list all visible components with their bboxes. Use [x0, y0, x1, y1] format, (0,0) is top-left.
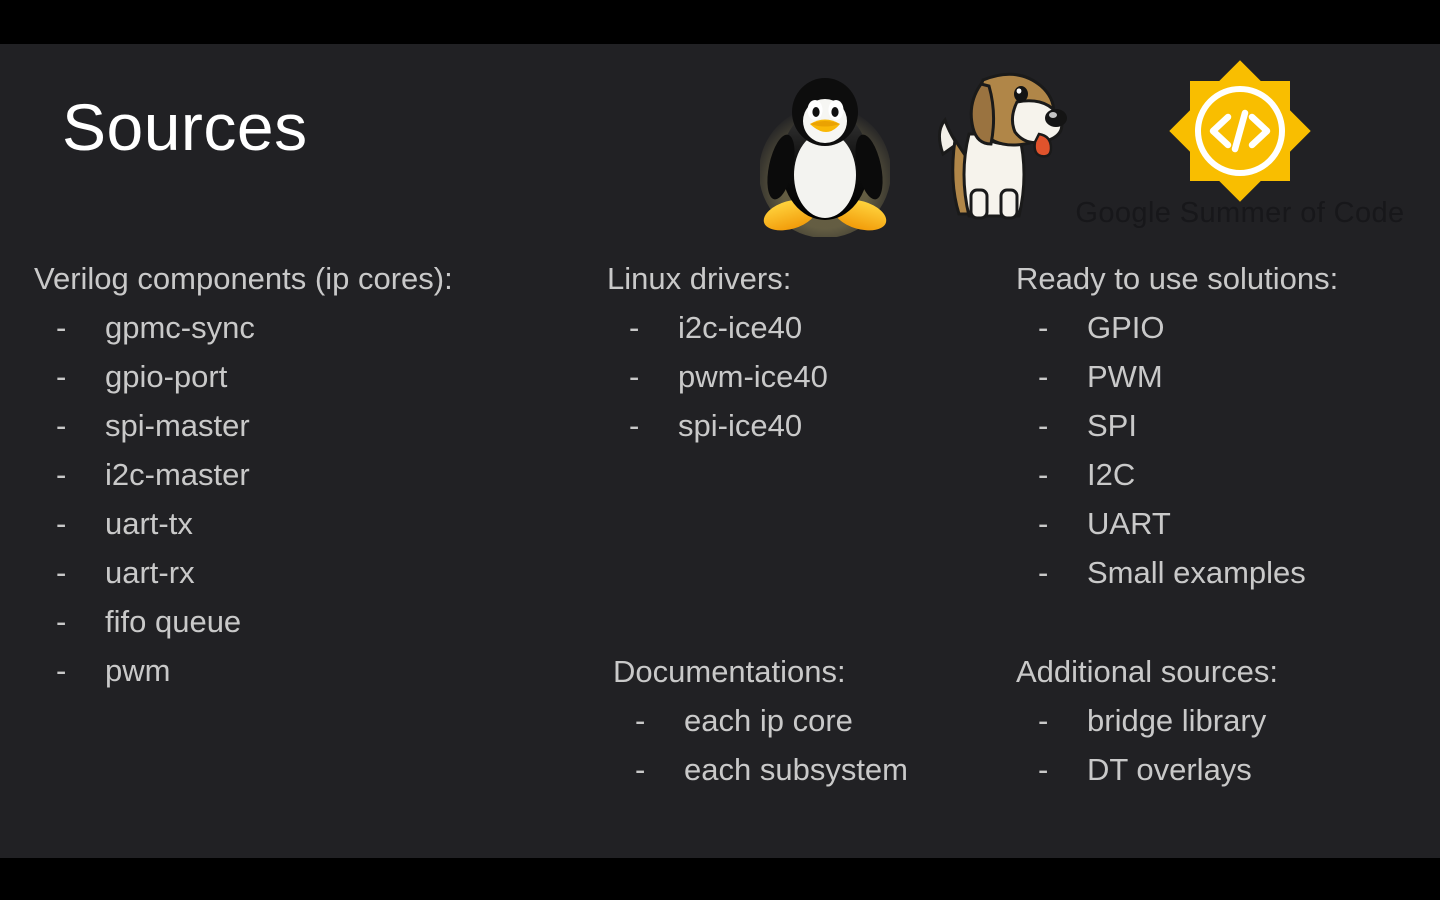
item-list: -gpmc-sync -gpio-port -spi-master -i2c-m… — [34, 303, 594, 695]
block-heading: Linux drivers: — [607, 254, 1007, 303]
list-item[interactable]: -each subsystem — [613, 745, 908, 794]
bullet-dash: - — [56, 499, 66, 548]
bullet-dash: - — [1038, 450, 1048, 499]
list-item-label: UART — [1087, 506, 1171, 541]
list-item-label: DT overlays — [1087, 752, 1252, 787]
bullet-dash: - — [1038, 401, 1048, 450]
list-item[interactable]: -gpmc-sync — [34, 303, 594, 352]
block-documentations: Documentations: -each ip core -each subs… — [613, 647, 908, 794]
presentation-slide: Sources — [0, 44, 1440, 858]
list-item[interactable]: -spi-master — [34, 401, 594, 450]
list-item[interactable]: -each ip core — [613, 696, 908, 745]
list-item-label: I2C — [1087, 457, 1135, 492]
list-item[interactable]: -PWM — [1016, 352, 1426, 401]
item-list: -each ip core -each subsystem — [613, 696, 908, 794]
list-item[interactable]: -SPI — [1016, 401, 1426, 450]
bullet-dash: - — [1038, 499, 1048, 548]
list-item[interactable]: -gpio-port — [34, 352, 594, 401]
bullet-dash: - — [56, 450, 66, 499]
list-item-label: gpio-port — [105, 359, 227, 394]
block-linux-drivers: Linux drivers: -i2c-ice40 -pwm-ice40 -sp… — [607, 254, 1007, 450]
column-linux-drivers: Linux drivers: -i2c-ice40 -pwm-ice40 -sp… — [607, 254, 1007, 450]
block-verilog-components: Verilog components (ip cores): -gpmc-syn… — [34, 254, 594, 695]
list-item[interactable]: -Small examples — [1016, 548, 1426, 597]
block-ready-to-use-solutions: Ready to use solutions: -GPIO -PWM -SPI … — [1016, 254, 1426, 597]
list-item[interactable]: -UART — [1016, 499, 1426, 548]
list-item-label: i2c-ice40 — [678, 310, 802, 345]
block-heading: Verilog components (ip cores): — [34, 254, 594, 303]
list-item-label: spi-master — [105, 408, 250, 443]
list-item[interactable]: -GPIO — [1016, 303, 1426, 352]
bullet-dash: - — [1038, 745, 1048, 794]
list-item[interactable]: -i2c-master — [34, 450, 594, 499]
bullet-dash: - — [56, 352, 66, 401]
list-item[interactable]: -uart-tx — [34, 499, 594, 548]
list-item-label: fifo queue — [105, 604, 241, 639]
list-item-label: gpmc-sync — [105, 310, 255, 345]
bullet-dash: - — [635, 745, 645, 794]
block-heading: Additional sources: — [1016, 647, 1278, 696]
item-list: -bridge library -DT overlays — [1016, 696, 1278, 794]
bullet-dash: - — [1038, 548, 1048, 597]
list-item-label: each subsystem — [684, 752, 908, 787]
bullet-dash: - — [56, 303, 66, 352]
list-item-label: pwm-ice40 — [678, 359, 828, 394]
list-item[interactable]: -i2c-ice40 — [607, 303, 1007, 352]
bullet-dash: - — [629, 401, 639, 450]
list-item-label: pwm — [105, 653, 170, 688]
list-item[interactable]: -spi-ice40 — [607, 401, 1007, 450]
list-item-label: SPI — [1087, 408, 1137, 443]
bullet-dash: - — [629, 303, 639, 352]
bullet-dash: - — [629, 352, 639, 401]
list-item-label: i2c-master — [105, 457, 250, 492]
bullet-dash: - — [1038, 303, 1048, 352]
column-verilog-components: Verilog components (ip cores): -gpmc-syn… — [34, 254, 594, 695]
bullet-dash: - — [56, 646, 66, 695]
block-heading: Ready to use solutions: — [1016, 254, 1426, 303]
bullet-dash: - — [635, 696, 645, 745]
bullet-dash: - — [56, 597, 66, 646]
list-item[interactable]: -pwm-ice40 — [607, 352, 1007, 401]
block-additional-sources: Additional sources: -bridge library -DT … — [1016, 647, 1278, 794]
list-item-label: PWM — [1087, 359, 1163, 394]
bullet-dash: - — [56, 548, 66, 597]
list-item-label: spi-ice40 — [678, 408, 802, 443]
bullet-dash: - — [1038, 696, 1048, 745]
list-item-label: bridge library — [1087, 703, 1266, 738]
item-list: -i2c-ice40 -pwm-ice40 -spi-ice40 — [607, 303, 1007, 450]
list-item-label: Small examples — [1087, 555, 1306, 590]
content-columns: Verilog components (ip cores): -gpmc-syn… — [0, 44, 1440, 858]
list-item[interactable]: -pwm — [34, 646, 594, 695]
list-item[interactable]: -I2C — [1016, 450, 1426, 499]
letterbox-bar-top — [0, 0, 1440, 44]
bullet-dash: - — [56, 401, 66, 450]
list-item-label: each ip core — [684, 703, 853, 738]
item-list: -GPIO -PWM -SPI -I2C -UART — [1016, 303, 1426, 597]
list-item-label: uart-tx — [105, 506, 193, 541]
list-item-label: uart-rx — [105, 555, 195, 590]
block-heading: Documentations: — [613, 647, 908, 696]
list-item[interactable]: -DT overlays — [1016, 745, 1278, 794]
list-item[interactable]: -uart-rx — [34, 548, 594, 597]
slide-screen: Sources — [0, 0, 1440, 900]
column-ready-to-use-solutions: Ready to use solutions: -GPIO -PWM -SPI … — [1016, 254, 1426, 597]
bullet-dash: - — [1038, 352, 1048, 401]
list-item[interactable]: -bridge library — [1016, 696, 1278, 745]
list-item-label: GPIO — [1087, 310, 1165, 345]
list-item[interactable]: -fifo queue — [34, 597, 594, 646]
letterbox-bar-bottom — [0, 858, 1440, 900]
